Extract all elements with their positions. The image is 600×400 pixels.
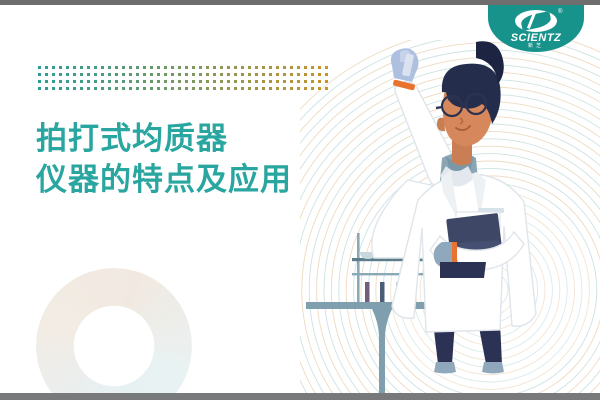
grid-dot: [220, 87, 223, 90]
grid-dot: [52, 66, 55, 69]
grid-dot: [150, 87, 153, 90]
grid-dot: [276, 80, 279, 83]
grid-dot: [227, 73, 230, 76]
grid-dot: [129, 66, 132, 69]
grid-dot: [87, 66, 90, 69]
grid-dot: [122, 87, 125, 90]
grid-dot: [129, 73, 132, 76]
grid-dot: [45, 87, 48, 90]
grid-dot: [262, 87, 265, 90]
page-title-line-2: 仪器的特点及应用: [36, 159, 292, 200]
grid-dot: [206, 66, 209, 69]
grid-dot: [108, 80, 111, 83]
grid-dot: [101, 66, 104, 69]
registered-trademark-symbol: ®: [558, 9, 562, 15]
grid-dot: [262, 73, 265, 76]
grid-dot: [276, 66, 279, 69]
bottom-chrome-bar: [0, 393, 600, 400]
grid-dot: [255, 87, 258, 90]
grid-dot: [94, 80, 97, 83]
grid-dot: [227, 66, 230, 69]
grid-dot: [192, 80, 195, 83]
grid-dot: [52, 80, 55, 83]
grid-dot: [80, 80, 83, 83]
grid-dot: [136, 87, 139, 90]
grid-dot: [185, 66, 188, 69]
grid-dot: [283, 80, 286, 83]
grid-dot: [178, 66, 181, 69]
grid-dot: [185, 80, 188, 83]
grid-dot: [178, 87, 181, 90]
gradient-ring-decor: [36, 268, 192, 400]
grid-dot: [234, 73, 237, 76]
grid-dot: [150, 80, 153, 83]
logo-wordmark-cn: 新芝: [488, 42, 584, 49]
grid-dot: [45, 80, 48, 83]
grid-dot: [80, 73, 83, 76]
grid-dot: [185, 87, 188, 90]
grid-dot: [94, 66, 97, 69]
grid-dot: [108, 73, 111, 76]
grid-dot: [164, 66, 167, 69]
grid-dot: [171, 80, 174, 83]
grid-dot: [220, 80, 223, 83]
grid-dot: [213, 87, 216, 90]
grid-dot: [164, 80, 167, 83]
grid-dot: [87, 87, 90, 90]
top-chrome-bar: [0, 0, 600, 5]
grid-dot: [115, 80, 118, 83]
grid-dot: [101, 87, 104, 90]
grid-dot: [234, 87, 237, 90]
grid-dot: [164, 87, 167, 90]
grid-dot: [136, 66, 139, 69]
grid-dot: [213, 66, 216, 69]
grid-dot: [108, 66, 111, 69]
grid-dot: [101, 80, 104, 83]
grid-dot: [178, 80, 181, 83]
grid-dot: [66, 66, 69, 69]
grid-dot: [150, 73, 153, 76]
grid-dot: [241, 80, 244, 83]
logo-emblem-icon: [515, 10, 557, 32]
grid-dot: [52, 87, 55, 90]
grid-dot: [227, 80, 230, 83]
grid-dot: [206, 80, 209, 83]
poster-canvas: 拍打式均质器 仪器的特点及应用: [0, 0, 600, 400]
grid-dot: [220, 73, 223, 76]
scientist-figure: [372, 41, 536, 373]
grid-dot: [185, 73, 188, 76]
grid-dot: [248, 87, 251, 90]
grid-dot: [73, 73, 76, 76]
grid-dot: [73, 66, 76, 69]
grid-dot: [122, 66, 125, 69]
grid-dot: [248, 80, 251, 83]
head: [436, 41, 504, 146]
grid-dot: [283, 73, 286, 76]
grid-dot: [206, 87, 209, 90]
grid-dot: [115, 66, 118, 69]
grid-dot: [129, 87, 132, 90]
grid-dot: [143, 80, 146, 83]
grid-dot: [171, 73, 174, 76]
grid-dot: [171, 87, 174, 90]
grid-dot: [59, 87, 62, 90]
grid-dot: [87, 73, 90, 76]
grid-dot: [38, 73, 41, 76]
grid-dot: [157, 66, 160, 69]
grid-dot: [101, 73, 104, 76]
grid-dot: [59, 73, 62, 76]
grid-dot: [150, 66, 153, 69]
grid-dot: [234, 66, 237, 69]
grid-dot: [269, 87, 272, 90]
grid-dot: [73, 87, 76, 90]
decorative-dot-grid: [38, 66, 332, 94]
grid-dot: [157, 80, 160, 83]
grid-dot: [262, 80, 265, 83]
grid-dot: [164, 73, 167, 76]
grid-dot: [283, 66, 286, 69]
grid-dot: [192, 87, 195, 90]
grid-dot: [80, 87, 83, 90]
grid-dot: [248, 66, 251, 69]
grid-dot: [143, 73, 146, 76]
grid-dot: [38, 80, 41, 83]
grid-dot: [136, 80, 139, 83]
grid-dot: [73, 80, 76, 83]
grid-dot: [255, 73, 258, 76]
grid-dot: [45, 66, 48, 69]
grid-dot: [108, 87, 111, 90]
grid-dot: [178, 73, 181, 76]
grid-dot: [199, 66, 202, 69]
grid-dot: [290, 73, 293, 76]
grid-dot: [136, 73, 139, 76]
grid-dot: [269, 73, 272, 76]
grid-dot: [59, 80, 62, 83]
grid-dot: [122, 80, 125, 83]
grid-dot: [143, 66, 146, 69]
grid-dot: [80, 66, 83, 69]
grid-dot: [241, 66, 244, 69]
grid-dot: [290, 66, 293, 69]
page-title: 拍打式均质器 仪器的特点及应用: [36, 118, 292, 200]
grid-dot: [262, 66, 265, 69]
grid-dot: [192, 73, 195, 76]
grid-dot: [94, 87, 97, 90]
grid-dot: [290, 87, 293, 90]
brand-logo[interactable]: ® SCIENTZ 新芝: [488, 4, 584, 52]
grid-dot: [269, 80, 272, 83]
grid-dot: [115, 87, 118, 90]
grid-dot: [206, 73, 209, 76]
grid-dot: [38, 66, 41, 69]
grid-dot: [59, 66, 62, 69]
grid-dot: [192, 66, 195, 69]
grid-dot: [45, 73, 48, 76]
grid-dot: [94, 73, 97, 76]
grid-dot: [66, 87, 69, 90]
grid-dot: [234, 80, 237, 83]
grid-dot: [157, 87, 160, 90]
grid-dot: [283, 87, 286, 90]
grid-dot: [220, 66, 223, 69]
grid-dot: [290, 80, 293, 83]
page-title-line-1: 拍打式均质器: [36, 118, 292, 159]
grid-dot: [129, 80, 132, 83]
grid-dot: [227, 87, 230, 90]
grid-dot: [66, 80, 69, 83]
grid-dot: [38, 87, 41, 90]
grid-dot: [66, 73, 69, 76]
grid-dot: [269, 66, 272, 69]
grid-dot: [87, 80, 90, 83]
grid-dot: [157, 73, 160, 76]
scientist-illustration: [300, 30, 600, 400]
grid-dot: [276, 87, 279, 90]
grid-dot: [199, 80, 202, 83]
grid-dot: [143, 87, 146, 90]
grid-dot: [241, 73, 244, 76]
grid-dot: [213, 73, 216, 76]
grid-dot: [255, 80, 258, 83]
grid-dot: [171, 66, 174, 69]
grid-dot: [241, 87, 244, 90]
grid-dot: [52, 73, 55, 76]
grid-dot: [255, 66, 258, 69]
grid-dot: [199, 73, 202, 76]
grid-dot: [199, 87, 202, 90]
grid-dot: [248, 73, 251, 76]
grid-dot: [115, 73, 118, 76]
grid-dot: [276, 73, 279, 76]
grid-dot: [213, 80, 216, 83]
grid-dot: [122, 73, 125, 76]
